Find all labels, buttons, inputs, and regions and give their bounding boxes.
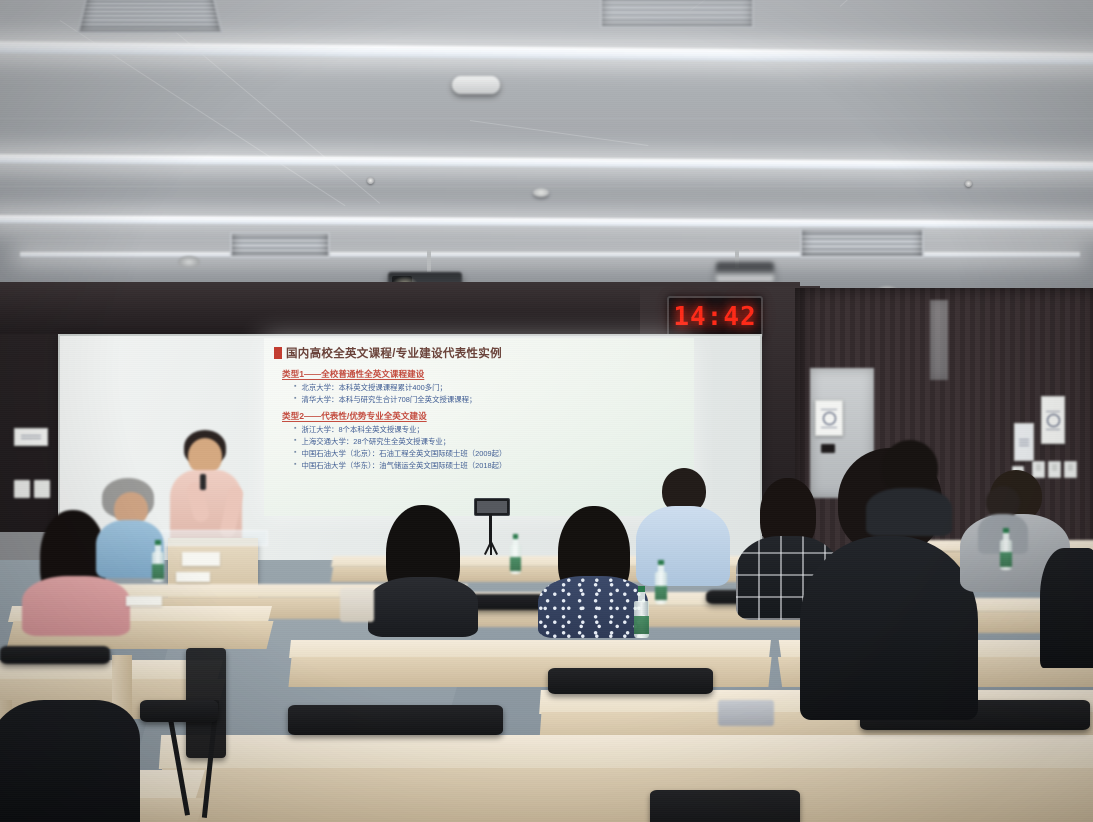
water-bottle[interactable]	[152, 540, 164, 582]
slide-bullet-text: 浙江大学：8个本科全英文授课专业；	[301, 425, 423, 434]
organization-logo-icon	[1047, 414, 1060, 427]
slide-bullet-text: 中国石油大学（华东）：油气储运全英文国际硕士班（2018起）	[301, 461, 506, 470]
slide-bullet-text: 北京大学：本科英文授课课程累计400多门；	[301, 383, 446, 392]
chair[interactable]	[548, 668, 713, 694]
tripod-pole	[489, 514, 492, 544]
sprinkler-head	[965, 180, 972, 187]
desk-row-5-top	[159, 735, 1093, 769]
slide-bullet: ▪ 北京大学：本科英文授课课程累计400多门；	[294, 383, 684, 392]
slide-bullet-text: 上海交通大学：28个研究生全英文授课专业；	[301, 437, 450, 446]
bag-on-desk[interactable]	[718, 700, 774, 726]
hvac-vent	[230, 232, 330, 258]
projected-slide: 国内高校全英文课程/专业建设代表性实例 类型1——全校普通性全英文课程建设 ▪ …	[264, 338, 694, 516]
wall-outlet[interactable]	[34, 480, 50, 498]
smartphone-tripod[interactable]	[474, 498, 508, 558]
audience-torso	[0, 700, 140, 822]
bullet-dot-icon: ▪	[294, 437, 296, 446]
smartphone-screen[interactable]	[474, 498, 510, 516]
wall-outlet[interactable]	[14, 480, 30, 498]
hvac-vent	[600, 0, 754, 28]
sign-text-line	[1019, 439, 1030, 440]
ceiling-equipment-box	[716, 262, 774, 282]
bullet-dot-icon: ▪	[294, 425, 296, 434]
sign-text-line	[21, 438, 40, 439]
slide-bullet: ▪ 浙江大学：8个本科全英文授课专业；	[294, 425, 684, 434]
ceiling-tile-line	[0, 186, 1093, 187]
slide-section-heading: 类型1——全校普通性全英文课程建设	[282, 368, 684, 380]
clock-time: 14:42	[673, 302, 756, 332]
audience-member	[366, 505, 478, 635]
audience-member	[1040, 548, 1093, 668]
sign-text-line	[1019, 442, 1030, 443]
sign-text-line	[21, 435, 40, 436]
classroom-photo-scene: 14:42 国内高校全英文课程/专业建设代表性实例 类型1——全	[0, 0, 1093, 822]
bullet-dot-icon: ▪	[294, 395, 296, 404]
audience-torso	[1040, 548, 1093, 668]
sign-text-line	[821, 427, 837, 428]
presenter-head	[188, 438, 222, 474]
notice-sign-right-upper	[1041, 396, 1065, 444]
chair-seat[interactable]	[140, 700, 218, 722]
bullet-dot-icon: ▪	[294, 449, 296, 458]
water-bottle[interactable]	[510, 534, 521, 574]
audience-torso	[538, 576, 648, 638]
notice-sign-right-lower	[1014, 423, 1034, 461]
right-wall-trim	[930, 300, 948, 380]
water-bottle[interactable]	[655, 560, 667, 604]
hvac-vent	[800, 228, 924, 258]
ceiling-tile-line	[0, 40, 1093, 41]
sign-text-line	[821, 409, 837, 410]
slide-bullet: ▪ 中国石油大学（北京）：石油工程全英文国际硕士班（2009起）	[294, 449, 684, 458]
projector-mount-rod	[427, 250, 431, 272]
ceiling-tile-line	[0, 240, 1093, 241]
sign-text-line	[1046, 429, 1059, 430]
slide-title: 国内高校全英文课程/专业建设代表性实例	[286, 345, 502, 361]
audience-torso	[800, 536, 978, 720]
water-bottle[interactable]	[1000, 528, 1012, 570]
podium-paper	[182, 552, 220, 566]
slide-title-row: 国内高校全英文课程/专业建设代表性实例	[274, 345, 684, 361]
audience-torso	[22, 576, 130, 636]
handout-paper[interactable]	[126, 596, 162, 606]
handout-paper[interactable]	[176, 572, 210, 582]
ceiling-speaker	[178, 256, 200, 268]
slide-title-marker-icon	[274, 347, 282, 359]
audience-member	[636, 468, 730, 586]
podium-glass-top	[160, 530, 268, 546]
sign-text-line	[1019, 445, 1030, 446]
desk-row-5-front	[158, 768, 1093, 822]
ceiling-tile-line	[0, 118, 1093, 119]
slide-bullet-text: 清华大学：本科与研究生合计708门全英文授课课程；	[301, 395, 476, 404]
water-bottle[interactable]	[634, 586, 649, 638]
sprinkler-head	[367, 177, 374, 184]
chair[interactable]	[288, 705, 503, 735]
slide-section-heading: 类型2——代表性/优势专业全英文建设	[282, 410, 684, 422]
notice-sign-center	[815, 400, 843, 436]
audience-torso	[866, 488, 952, 536]
audience-torso	[636, 506, 730, 586]
desk-row-3-top	[289, 640, 771, 658]
audience-member	[866, 440, 952, 530]
slide-bullet-text: 中国石油大学（北京）：石油工程全英文国际硕士班（2009起）	[301, 449, 506, 458]
tripod-leg	[490, 542, 492, 555]
bullet-dot-icon: ▪	[294, 461, 296, 470]
audience-member	[0, 700, 140, 822]
bullet-dot-icon: ▪	[294, 383, 296, 392]
audience-member	[536, 506, 648, 636]
organization-logo-icon	[823, 412, 836, 425]
left-wall-label	[14, 428, 48, 446]
wall-clock: 14:42	[667, 296, 763, 338]
sign-text-line	[1046, 411, 1059, 412]
handbag[interactable]	[340, 588, 374, 622]
slide-bullet: ▪ 中国石油大学（华东）：油气储运全英文国际硕士班（2018起）	[294, 461, 684, 470]
ceiling-sensor	[452, 76, 500, 94]
slide-bullet: ▪ 清华大学：本科与研究生合计708门全英文授课课程；	[294, 395, 684, 404]
hvac-vent	[77, 0, 223, 33]
audience-torso	[368, 577, 478, 637]
smoke-detector	[533, 188, 549, 197]
chair[interactable]	[0, 646, 110, 664]
handheld-microphone	[200, 474, 206, 490]
slide-bullet: ▪ 上海交通大学：28个研究生全英文授课专业；	[294, 437, 684, 446]
chair[interactable]	[650, 790, 800, 822]
